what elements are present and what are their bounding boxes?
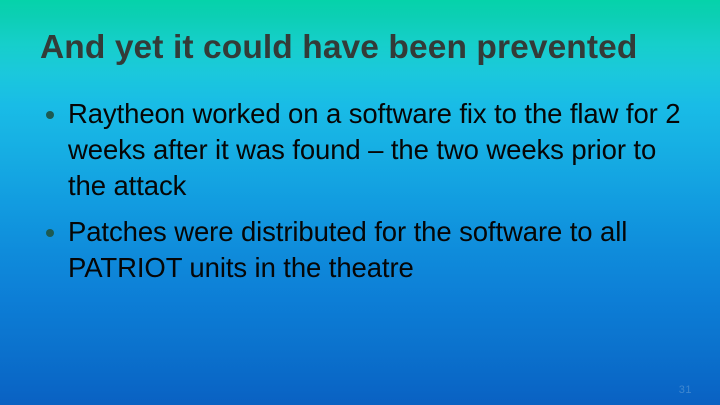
- bullet-dot-icon: [46, 229, 54, 237]
- bullet-item-label: Patches were distributed for the softwar…: [68, 214, 688, 286]
- slide-title: And yet it could have been prevented: [40, 28, 688, 68]
- bullet-item-label: Raytheon worked on a software fix to the…: [68, 96, 688, 204]
- bullet-list-item: Raytheon worked on a software fix to the…: [40, 96, 688, 204]
- presentation-slide: And yet it could have been prevented Ray…: [0, 0, 720, 405]
- bullet-list-item: Patches were distributed for the softwar…: [40, 214, 688, 286]
- bullet-dot-icon: [46, 111, 54, 119]
- slide-page-number: 31: [679, 383, 692, 397]
- slide-body-content: Raytheon worked on a software fix to the…: [40, 96, 688, 286]
